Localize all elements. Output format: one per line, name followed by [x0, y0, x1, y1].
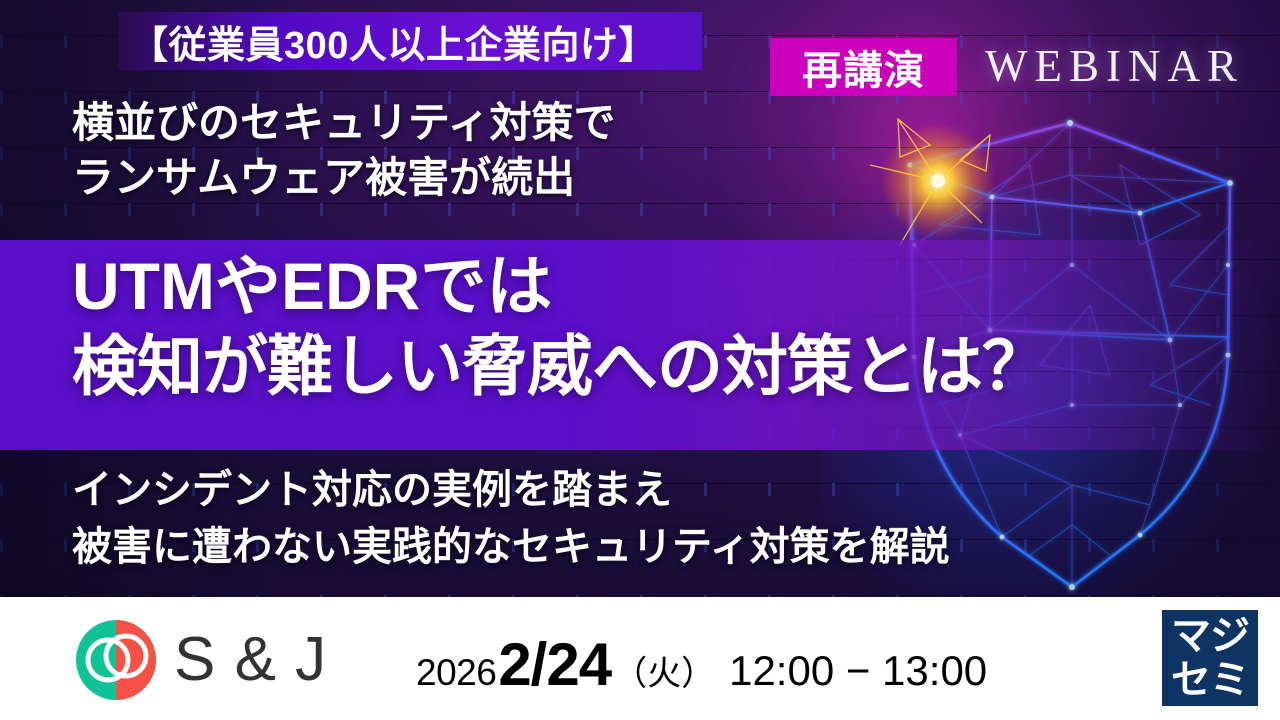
sub-headline-line-1: 横並びのセキュリティ対策で	[72, 96, 772, 151]
sj-logo-wordmark: S & J	[174, 629, 327, 691]
majisemi-logo: マジ セミ	[1162, 610, 1258, 706]
sub-headline: 横並びのセキュリティ対策で ランサムウェア被害が続出	[72, 96, 772, 205]
main-title-line-1: UTMやEDRでは	[72, 252, 1132, 322]
sub-headline-line-2: ランサムウェア被害が続出	[72, 151, 772, 206]
webinar-banner: 【従業員300人以上企業向け】 再講演 WEBINAR 横並びのセキュリティ対策…	[0, 0, 1280, 720]
main-title-line-2: 検知が難しい脅威への対策とは？	[72, 332, 1132, 402]
webinar-label: WEBINAR	[985, 40, 1244, 92]
event-time-range: 12:00 − 13:00	[729, 647, 987, 695]
majisemi-logo-line-2: セミ	[1171, 660, 1249, 700]
description-line-2: 被害に遭わない実践的なセキュリティ対策を解説	[72, 519, 1062, 576]
majisemi-logo-line-1: マジ	[1171, 616, 1249, 656]
target-audience-label: 【従業員300人以上企業向け】	[130, 14, 710, 68]
event-weekday: （火）	[613, 646, 715, 695]
event-month-day: 2/24	[498, 630, 611, 699]
description-line-1: インシデント対応の実例を踏まえ	[72, 462, 1062, 519]
event-year: 2026	[416, 652, 496, 694]
sj-logo-mark-icon	[72, 616, 160, 704]
replay-badge: 再講演	[770, 38, 957, 96]
event-datetime: 2026 2/24 （火） 12:00 − 13:00	[416, 630, 987, 699]
spark-burst-icon	[870, 119, 996, 245]
main-title: UTMやEDRでは 検知が難しい脅威への対策とは？	[72, 252, 1132, 402]
description: インシデント対応の実例を踏まえ 被害に遭わない実践的なセキュリティ対策を解説	[72, 462, 1062, 576]
sj-logo: S & J	[72, 616, 327, 704]
